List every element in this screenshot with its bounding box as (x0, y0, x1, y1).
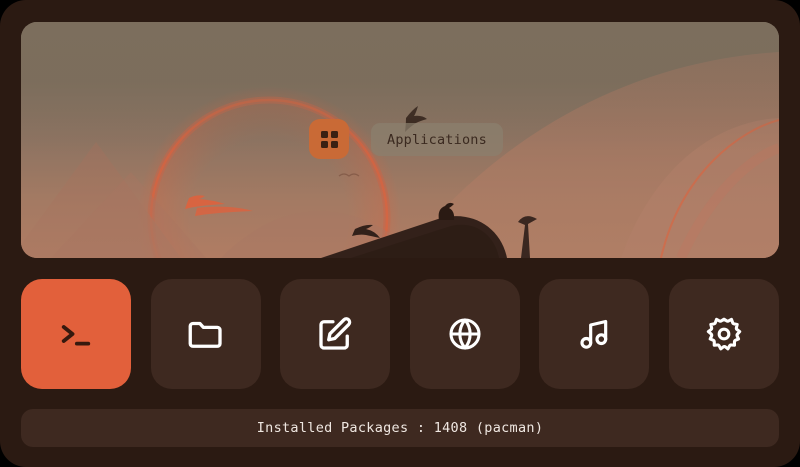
status-bar: Installed Packages : 1408 (pacman) (21, 409, 779, 447)
dock-item-terminal[interactable] (21, 279, 131, 389)
applications-tooltip: Applications (371, 123, 503, 156)
desktop-shell: Applications (0, 0, 800, 467)
dock-item-web-browser[interactable] (410, 279, 520, 389)
applications-tooltip-label: Applications (387, 132, 487, 148)
dock-item-settings[interactable] (669, 279, 779, 389)
edit-square-icon (314, 313, 356, 355)
installed-packages-status: Installed Packages : 1408 (pacman) (257, 420, 544, 436)
applications-launcher-button[interactable] (309, 119, 349, 159)
music-note-icon (574, 314, 614, 354)
gear-icon (704, 314, 744, 354)
dock-item-files[interactable] (151, 279, 261, 389)
grid-icon (321, 131, 338, 148)
globe-icon (445, 314, 485, 354)
dock (21, 279, 779, 389)
dock-item-music-player[interactable] (539, 279, 649, 389)
terminal-icon (55, 313, 97, 355)
folder-icon (185, 313, 227, 355)
dock-item-text-editor[interactable] (280, 279, 390, 389)
